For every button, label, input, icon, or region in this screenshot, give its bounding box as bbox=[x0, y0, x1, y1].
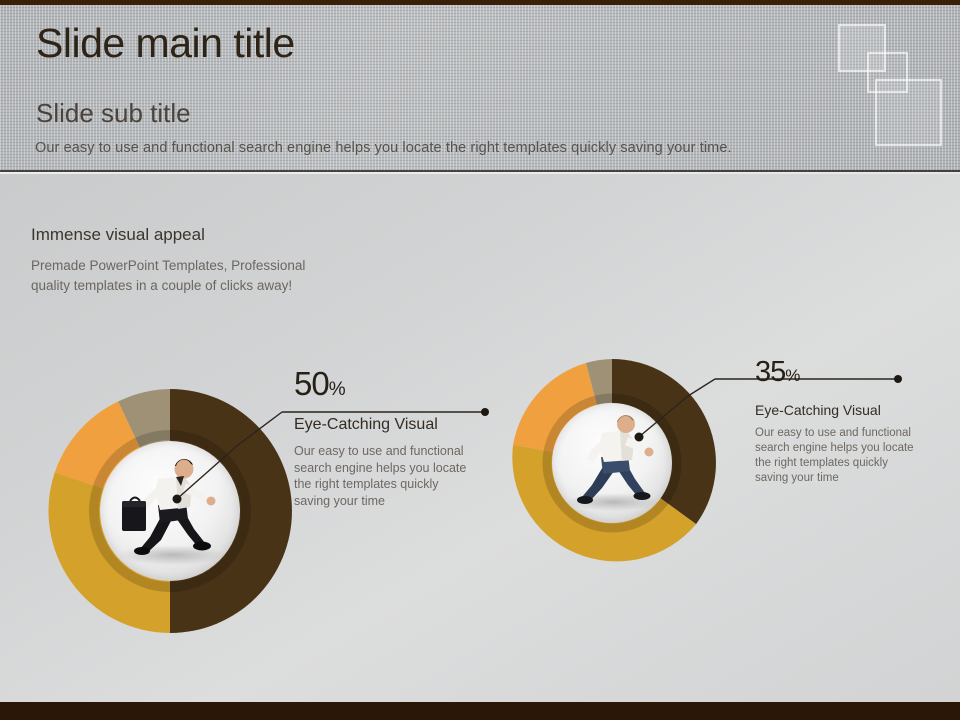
callout-1-body-line-2: search engine helps you locate bbox=[294, 460, 494, 477]
callout-1-body-line-1: Our easy to use and functional bbox=[294, 443, 494, 460]
callout-1-percent-value: 50 bbox=[294, 365, 329, 402]
header-tagline: Our easy to use and functional search en… bbox=[35, 140, 732, 156]
callout-2-title: Eye-Catching Visual bbox=[755, 403, 915, 417]
callout-2: 35% Eye-Catching Visual Our easy to use … bbox=[755, 358, 915, 486]
page-subtitle: Slide sub title bbox=[36, 100, 191, 126]
callout-2-body-line-3: the right templates quickly bbox=[755, 456, 915, 471]
callout-1-percent: 50% bbox=[294, 367, 494, 400]
callout-1-body-line-3: the right templates quickly bbox=[294, 476, 494, 493]
section-heading: Immense visual appeal bbox=[31, 225, 205, 245]
callout-2-body-line-2: search engine helps you locate bbox=[755, 441, 915, 456]
decorative-square-3 bbox=[875, 79, 942, 146]
callout-1-title: Eye-Catching Visual bbox=[294, 417, 494, 433]
callout-1-body-line-4: saving your time bbox=[294, 493, 494, 510]
section-body: Premade PowerPoint Templates, Profession… bbox=[31, 256, 305, 296]
percent-sign-icon-2: % bbox=[785, 366, 800, 385]
section-body-line-1: Premade PowerPoint Templates, Profession… bbox=[31, 256, 305, 276]
page-title: Slide main title bbox=[36, 23, 295, 64]
callout-2-percent-value: 35 bbox=[755, 356, 785, 388]
bottom-accent-bar bbox=[0, 702, 960, 720]
callout-2-percent: 35% bbox=[755, 358, 915, 387]
callout-2-body-line-4: saving your time bbox=[755, 471, 915, 486]
callout-2-body: Our easy to use and functional search en… bbox=[755, 426, 915, 486]
callout-1: 50% Eye-Catching Visual Our easy to use … bbox=[294, 367, 494, 509]
percent-sign-icon: % bbox=[329, 379, 346, 400]
slide-canvas: Slide main title Slide sub title Our eas… bbox=[0, 0, 960, 720]
callout-2-body-line-1: Our easy to use and functional bbox=[755, 426, 915, 441]
callout-1-body: Our easy to use and functional search en… bbox=[294, 443, 494, 509]
section-body-line-2: quality templates in a couple of clicks … bbox=[31, 276, 305, 296]
